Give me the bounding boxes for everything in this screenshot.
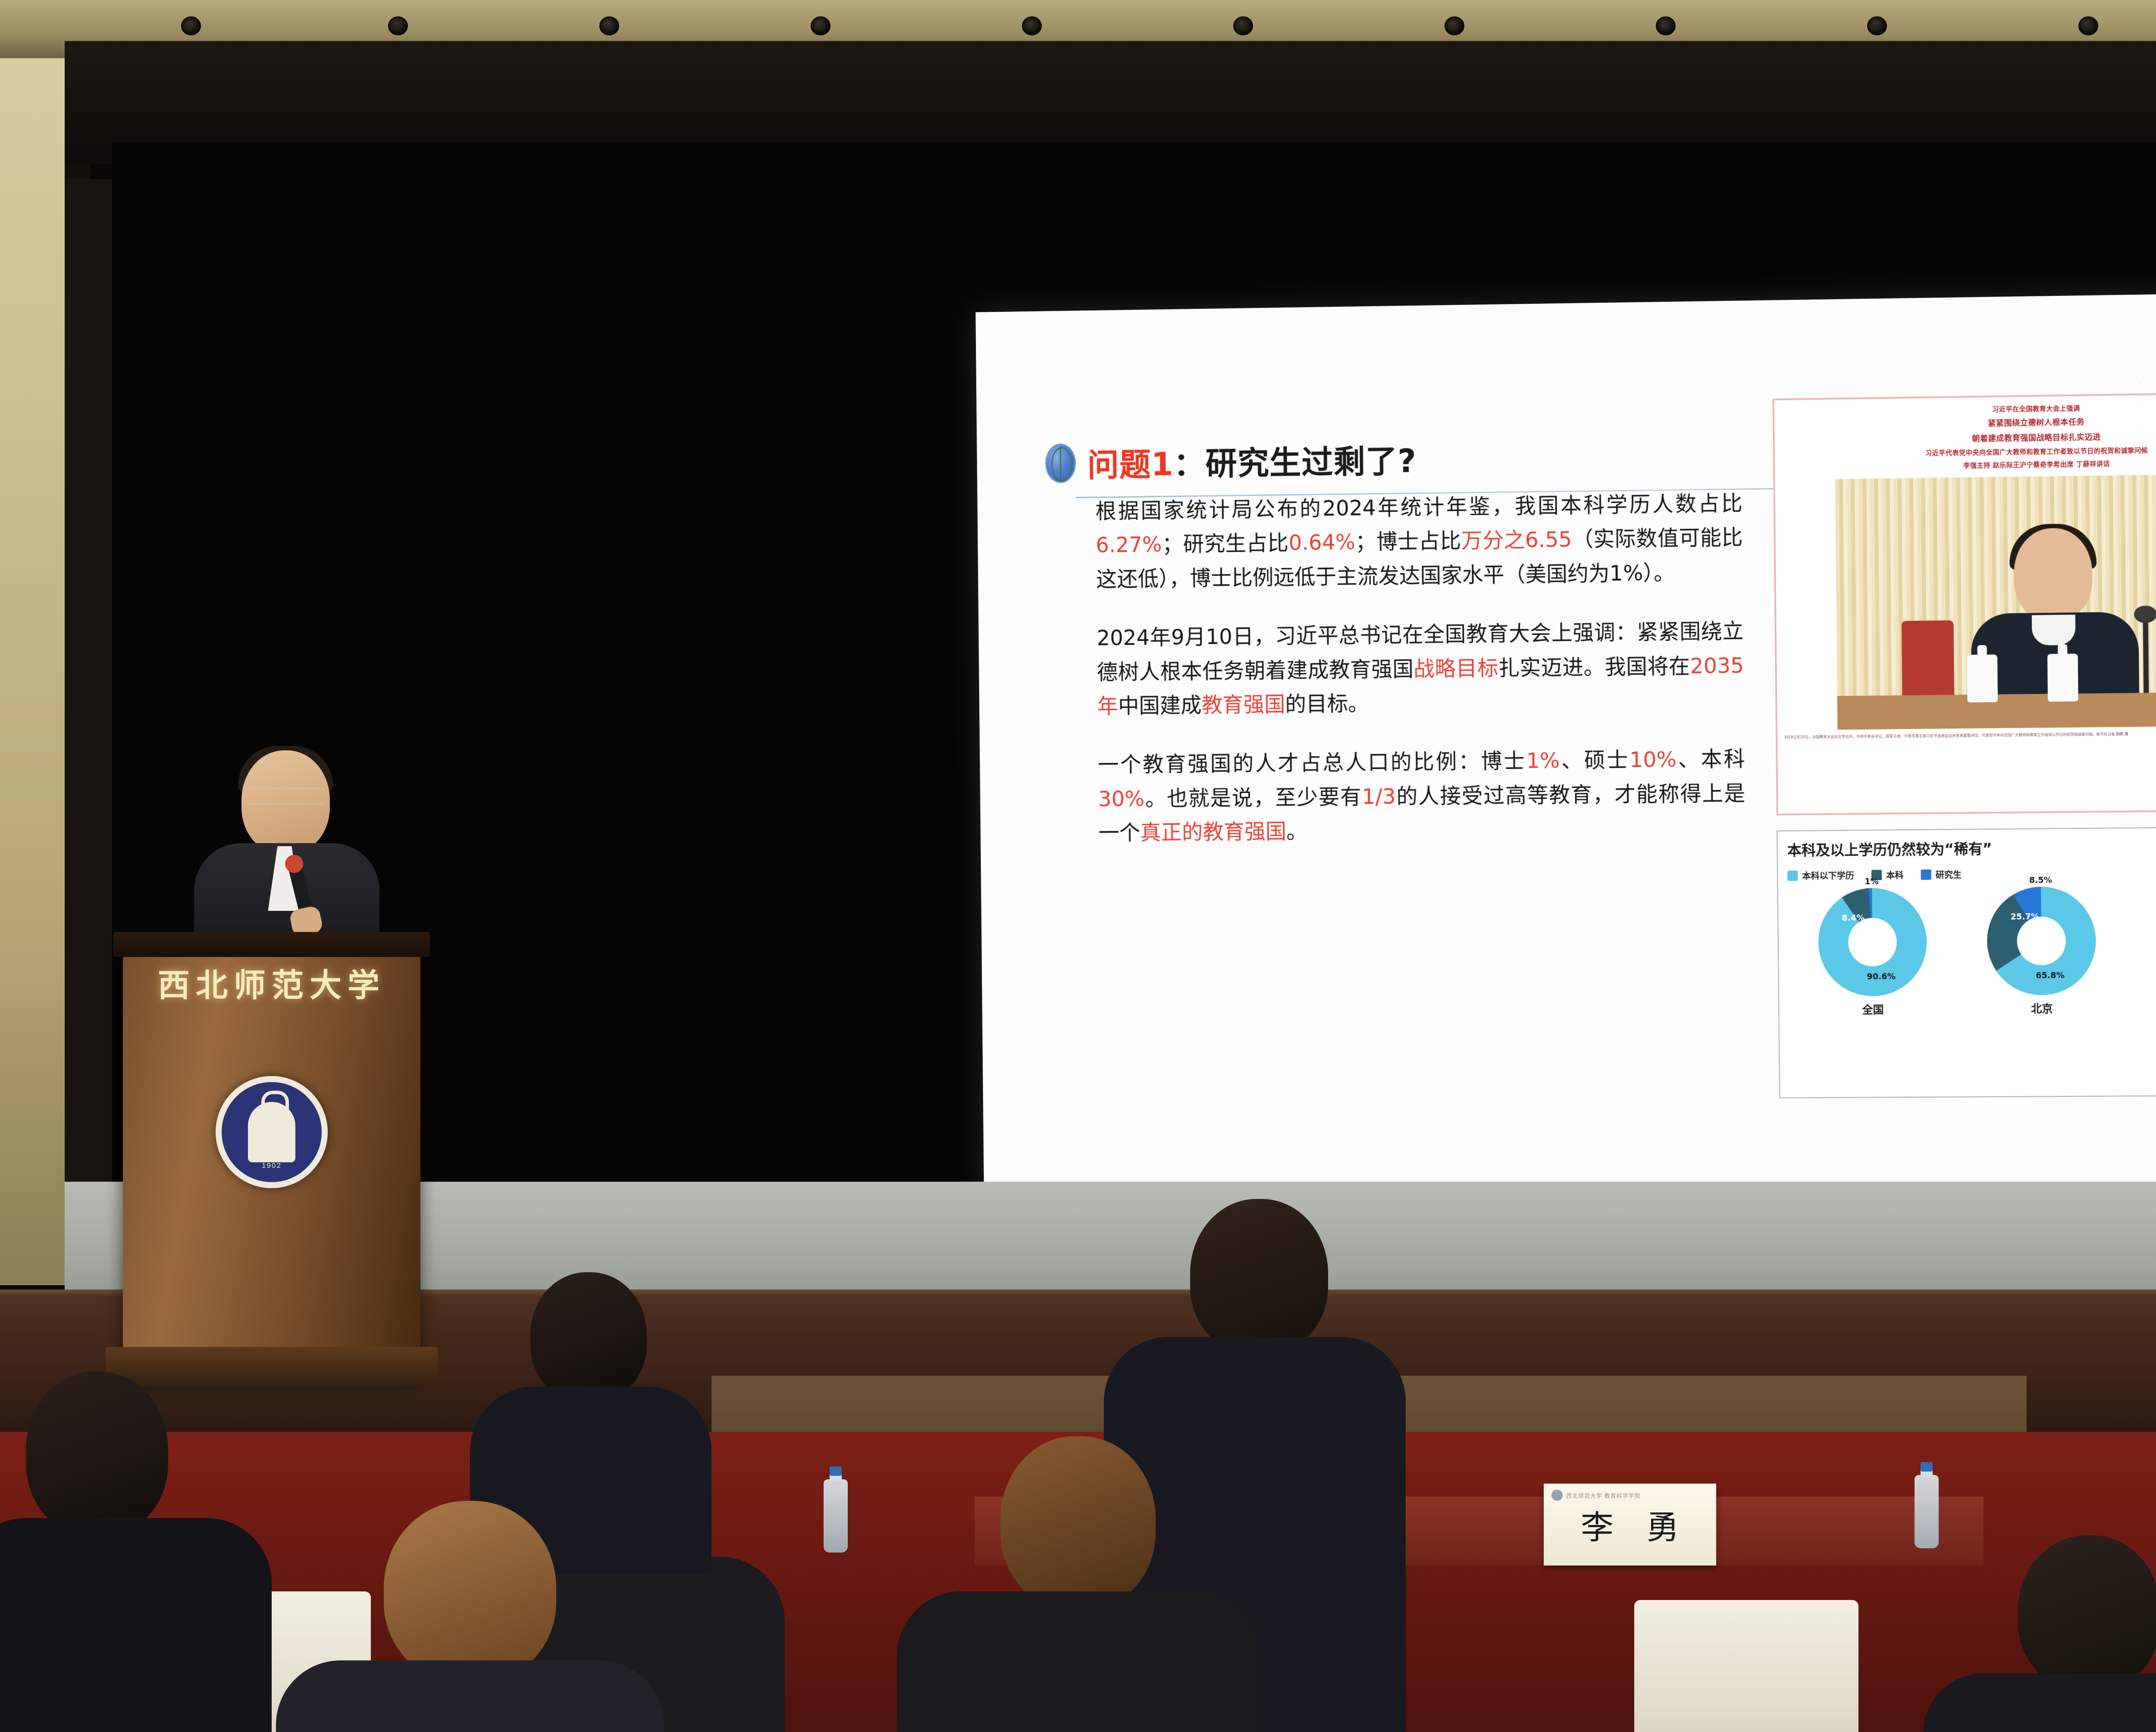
- legend-label: 研究生: [1936, 868, 1962, 881]
- highlight-run: 万分之6.55: [1461, 527, 1572, 553]
- microphone-icon: [2143, 620, 2149, 696]
- highlight-run: 30%: [1098, 787, 1145, 812]
- projection-screen: 问题1：研究生过剩了? 根据国家统计局公布的2024年统计年鉴，我国本科学历人数…: [975, 292, 2156, 1189]
- audience-member: [276, 1501, 664, 1732]
- donut-slice-label: 8.5%: [2029, 875, 2052, 885]
- podium-top-surface: [113, 932, 430, 957]
- spotlight-icon: [1656, 16, 1676, 35]
- slide-title: 问题1：研究生过剩了?: [1087, 436, 1416, 486]
- paragraph-1: 根据国家统计局公布的2024年统计年鉴，我国本科学历人数占比6.27%；研究生占…: [1095, 486, 1743, 597]
- spotlight-icon: [2078, 16, 2098, 35]
- highlight-run: 6.27%: [1096, 533, 1162, 558]
- donut-slice-label: 25.7%: [2010, 912, 2039, 922]
- donut-slice-label: 8.4%: [1842, 913, 1865, 922]
- nameplate-org: 西北师范大学 教育科学学院: [1566, 1491, 1641, 1500]
- donut-region-label: 上海: [2146, 999, 2156, 1015]
- lecture-hall-photo: 问题1：研究生过剩了? 根据国家统计局公布的2024年统计年鉴，我国本科学历人数…: [0, 0, 2156, 1732]
- slide-title-highlight: 问题1: [1087, 446, 1174, 484]
- news-photo-card: 习近平在全国教育大会上强调 紧紧围绕立德树人根本任务 朝着建成教育强国战略目标扎…: [1773, 391, 2156, 815]
- spotlight-icon: [811, 16, 830, 35]
- text-run: 、硕士: [1560, 748, 1630, 773]
- bottle-cap: [830, 1466, 842, 1476]
- text-run: ；博士占比: [1355, 529, 1462, 555]
- text-run: 。也就是说，至少要有: [1144, 784, 1362, 811]
- donut-chart: 65.8%25.7%8.5%北京: [1975, 886, 2107, 1017]
- figure-head: [2013, 528, 2093, 622]
- bottle-cap: [1921, 1462, 1933, 1472]
- highlight-run: 真正的教育强国: [1140, 819, 1287, 845]
- spotlight-icon: [1233, 16, 1253, 35]
- text-run: 、本科: [1677, 747, 1745, 772]
- nameplate-name: 李 勇: [1570, 1501, 1690, 1548]
- legend-label: 本科: [1886, 868, 1903, 881]
- text-run: 一个教育强国的人才占总人口的比例：博士: [1098, 749, 1526, 777]
- education-chart: 本科及以上学历仍然较为“稀有” 上观 本科以下学历 本科: [1777, 826, 2156, 1098]
- teacup-icon: [2047, 654, 2078, 702]
- legend-label: 本科以下学历: [1802, 869, 1854, 882]
- audience-head: [530, 1272, 647, 1402]
- donut-ring: 90.6%8.4%1%: [1818, 888, 1927, 996]
- glasses-icon: [247, 788, 325, 805]
- legend-swatch: [1787, 870, 1798, 881]
- audience-head: [1190, 1199, 1328, 1354]
- legend-item: 研究生: [1921, 868, 1962, 881]
- spotlight-icon: [599, 16, 619, 35]
- spotlight-icon: [388, 16, 408, 35]
- emblem-year: 1902: [222, 1161, 322, 1170]
- chart-legend: 本科以下学历 本科 研究生: [1787, 865, 2156, 882]
- audience-head: [384, 1501, 556, 1682]
- highlight-run: 教育强国: [1201, 692, 1285, 718]
- donut-slice-label: 65.8%: [2036, 971, 2065, 981]
- spotlight-icon: [181, 16, 201, 35]
- highlight-run: 0.64%: [1288, 530, 1355, 555]
- audience-member: [0, 1371, 267, 1732]
- spotlight-icon: [1022, 16, 1042, 35]
- text-run: ；研究生占比: [1162, 531, 1289, 557]
- highlight-run: 战略目标: [1413, 656, 1498, 681]
- slide-content: 问题1：研究生过剩了? 根据国家统计局公布的2024年统计年鉴，我国本科学历人数…: [975, 292, 2156, 1189]
- slide-title-rest: ：研究生过剩了?: [1173, 443, 1416, 483]
- podium: 西北师范大学 1902: [123, 947, 420, 1382]
- news-caption: 9月9日至10日，全国教育大会在北京召开。中共中央总书记、国家主席、中央军委主席…: [1784, 730, 2156, 741]
- paragraph-3: 一个教育强国的人才占总人口的比例：博士1%、硕士10%、本科30%。也就是说，至…: [1098, 742, 1746, 850]
- donut-region-label: 全国: [1808, 1001, 1938, 1017]
- audience-member: [897, 1436, 1259, 1732]
- audience-shoulders: [276, 1660, 664, 1732]
- emblem-bell-icon: [248, 1102, 295, 1162]
- donut-hole: [1848, 918, 1897, 966]
- text-run: 的目标。: [1285, 691, 1369, 717]
- spotlight-icon: [1445, 16, 1464, 35]
- donut-slice-label: 90.6%: [1867, 972, 1895, 982]
- spotlight-icon: [1867, 16, 1887, 35]
- legend-item: 本科以下学历: [1787, 869, 1854, 882]
- teacup-icon: [1967, 655, 1998, 703]
- figure-collar: [2031, 615, 2075, 645]
- legend-swatch: [1921, 869, 1931, 879]
- audience-shoulders: [1923, 1673, 2156, 1732]
- news-headlines: 习近平在全国教育大会上强调 紧紧围绕立德树人根本任务 朝着建成教育强国战略目标扎…: [1781, 399, 2156, 475]
- nameplate: 西北师范大学 教育科学学院 李 勇: [1544, 1484, 1716, 1566]
- water-bottle: [824, 1479, 848, 1553]
- donut-ring: 65.8%25.7%8.5%: [1986, 886, 2096, 995]
- donut-chart-group: 90.6%8.4%1%全国65.8%25.7%8.5%北京75.3%19.8%4…: [1788, 885, 2156, 1018]
- chart-title: 本科及以上学历仍然较为“稀有”: [1787, 838, 1992, 860]
- audience-head: [26, 1371, 168, 1535]
- donut-chart: 75.3%19.8%4.9%上海: [2145, 885, 2156, 1015]
- university-emblem: 1902: [216, 1076, 328, 1188]
- text-run: 根据国家统计局公布的2024年统计年鉴，我国本科学历人数占比: [1095, 491, 1742, 524]
- podium-institution-name: 西北师范大学: [123, 960, 420, 1006]
- news-photograph: [1835, 474, 2156, 730]
- globe-icon: [1047, 445, 1075, 482]
- chart-header: 本科及以上学历仍然较为“稀有” 上观: [1787, 835, 2156, 860]
- donut-region-label: 北京: [1977, 1000, 2107, 1016]
- donut-chart: 90.6%8.4%1%全国: [1807, 888, 1938, 1017]
- donut-hole: [2017, 916, 2066, 965]
- audience-head: [2018, 1535, 2156, 1691]
- audience-shoulders: [897, 1591, 1259, 1732]
- highlight-run: 1/3: [1362, 784, 1396, 809]
- text-run: 中国建成: [1118, 693, 1202, 719]
- audience-shoulders: [0, 1518, 272, 1732]
- highlight-run: 10%: [1630, 747, 1677, 772]
- donut-slice-label: 1%: [1865, 877, 1879, 886]
- speaker-presenter: [185, 746, 388, 962]
- highlight-run: 1%: [1526, 748, 1560, 773]
- audience-head: [1000, 1436, 1156, 1609]
- text-run: 扎实迈进。我国将在: [1498, 654, 1690, 681]
- text-run: 。: [1286, 819, 1307, 844]
- emblem-icon: [1551, 1490, 1563, 1501]
- audience-member: [1923, 1535, 2156, 1732]
- paragraph-2: 2024年9月10日，习近平总书记在全国教育大会上强调：紧紧围绕立德树人根本任务…: [1097, 614, 1745, 723]
- chair: [1634, 1600, 1858, 1732]
- slide-body: 根据国家统计局公布的2024年统计年鉴，我国本科学历人数占比6.27%；研究生占…: [1095, 486, 1746, 875]
- nameplate-header: 西北师范大学 教育科学学院: [1551, 1490, 1641, 1501]
